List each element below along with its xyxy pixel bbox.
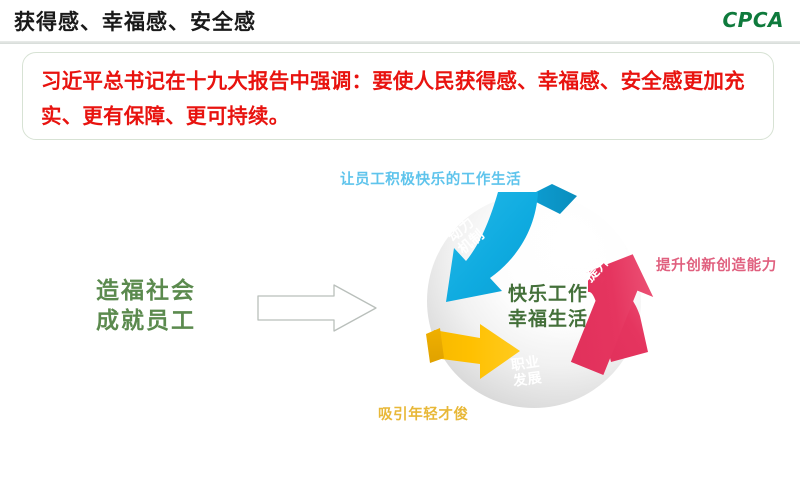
pink-arrow-caption: 提升创新创造能力	[656, 254, 777, 275]
cycle-diagram: 快乐工作 幸福生活 动力 机制 能力 提升 职业 发展 让员工积极快乐的工作生活…	[330, 158, 800, 448]
header-divider	[0, 41, 800, 44]
center-label-line-1: 快乐工作	[488, 282, 608, 307]
quote-text: 习近平总书记在十九大报告中强调：要使人民获得感、幸福感、安全感更加充实、更有保障…	[41, 64, 757, 134]
yellow-arrow-caption: 吸引年轻才俊	[378, 403, 469, 424]
center-label-line-2: 幸福生活	[488, 307, 608, 332]
yellow-arrow-label: 职业 发展	[510, 354, 543, 390]
left-slogan-line-2: 成就员工	[96, 306, 196, 336]
slide-canvas: 获得感、幸福感、安全感 CPCA 习近平总书记在十九大报告中强调：要使人民获得感…	[0, 0, 800, 485]
left-slogan: 造福社会 成就员工	[96, 276, 196, 336]
quote-box: 习近平总书记在十九大报告中强调：要使人民获得感、幸福感、安全感更加充实、更有保障…	[22, 52, 774, 140]
center-label: 快乐工作 幸福生活	[488, 282, 608, 332]
page-title: 获得感、幸福感、安全感	[14, 6, 256, 36]
blue-arrow-caption: 让员工积极快乐的工作生活	[340, 168, 521, 189]
cpca-logo: CPCA	[723, 8, 785, 32]
slide-header: 获得感、幸福感、安全感 CPCA	[0, 0, 800, 44]
left-slogan-line-1: 造福社会	[96, 276, 196, 306]
